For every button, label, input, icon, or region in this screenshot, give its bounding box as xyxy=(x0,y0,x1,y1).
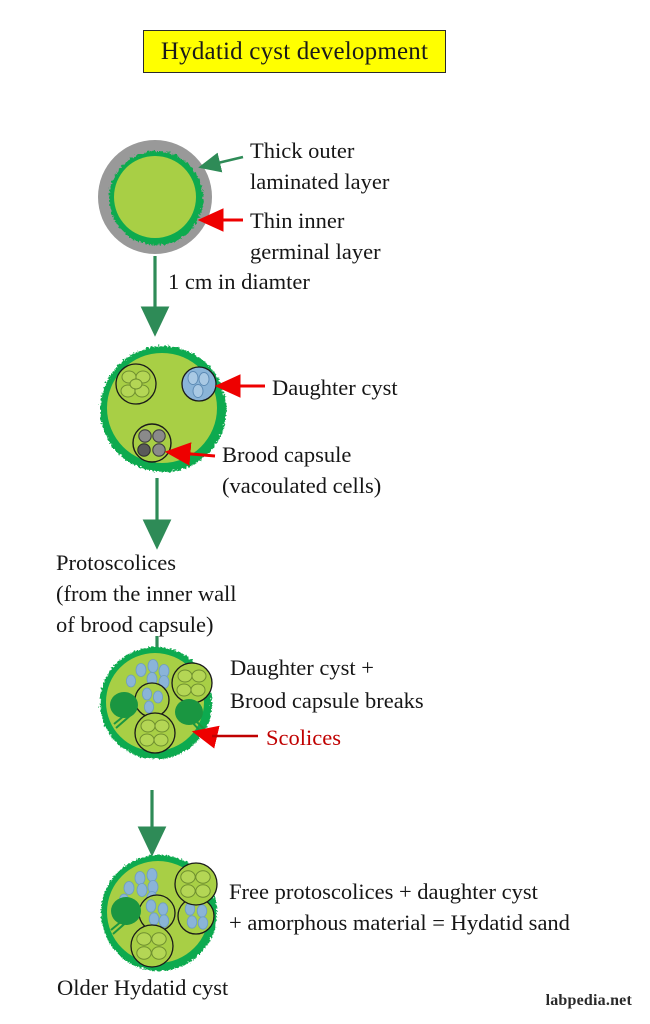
page-title: Hydatid cyst development xyxy=(161,38,428,66)
label-thin-inner-germinal-layer: Thin inner xyxy=(250,205,344,236)
label-thick-outer-laminated-layer-line2: laminated layer xyxy=(250,166,389,197)
stage-2-daughter-cyst-formation xyxy=(99,345,225,471)
label-brood-capsule-line2: (vacoulated cells) xyxy=(222,470,381,501)
daughter-cyst xyxy=(182,367,216,401)
label-thin-inner-germinal-layer-line2: germinal layer xyxy=(250,236,381,267)
label-protoscolices-line2: (from the inner wall xyxy=(56,578,237,609)
label-hydatid-sand-line1: Free protoscolices + daughter cyst xyxy=(229,876,538,907)
label-protoscolices: Protoscolices xyxy=(56,547,176,578)
label-daughter-cyst-plus: Daughter cyst + xyxy=(230,652,374,683)
stage-1-young-cyst xyxy=(98,140,212,254)
label-brood-capsule: Brood capsule xyxy=(222,439,351,470)
label-diameter: 1 cm in diamter xyxy=(168,266,310,297)
brood-capsule xyxy=(133,424,171,462)
watermark-labpedia: labpedia.net xyxy=(546,992,632,1010)
stage-4-capsule-breaks xyxy=(99,646,212,758)
label-brood-capsule-breaks: Brood capsule breaks xyxy=(230,685,424,716)
vacuolated-capsule xyxy=(172,663,212,703)
label-thick-outer-laminated-layer: Thick outer xyxy=(250,135,354,166)
vacuolated-capsule xyxy=(175,863,217,905)
label-daughter-cyst: Daughter cyst xyxy=(272,372,398,403)
vacuolated-capsule xyxy=(135,713,175,753)
label-scolices: Scolices xyxy=(266,722,341,753)
vacuolated-capsule xyxy=(116,364,156,404)
pointer-arrow-laminated-layer xyxy=(201,157,243,167)
stage-5-older-cyst xyxy=(100,854,217,970)
cyst-fluid xyxy=(114,156,196,238)
broken-brood-capsule xyxy=(135,683,169,717)
label-older-hydatid-cyst: Older Hydatid cyst xyxy=(57,972,228,1003)
diagram-page: Hydatid cyst development Thick outer lam… xyxy=(0,0,650,1024)
title-banner: Hydatid cyst development xyxy=(143,30,446,73)
label-protoscolices-line3: of brood capsule) xyxy=(56,609,213,640)
vacuolated-capsule xyxy=(131,925,173,967)
label-hydatid-sand-line2: + amorphous material = Hydatid sand xyxy=(229,907,570,938)
